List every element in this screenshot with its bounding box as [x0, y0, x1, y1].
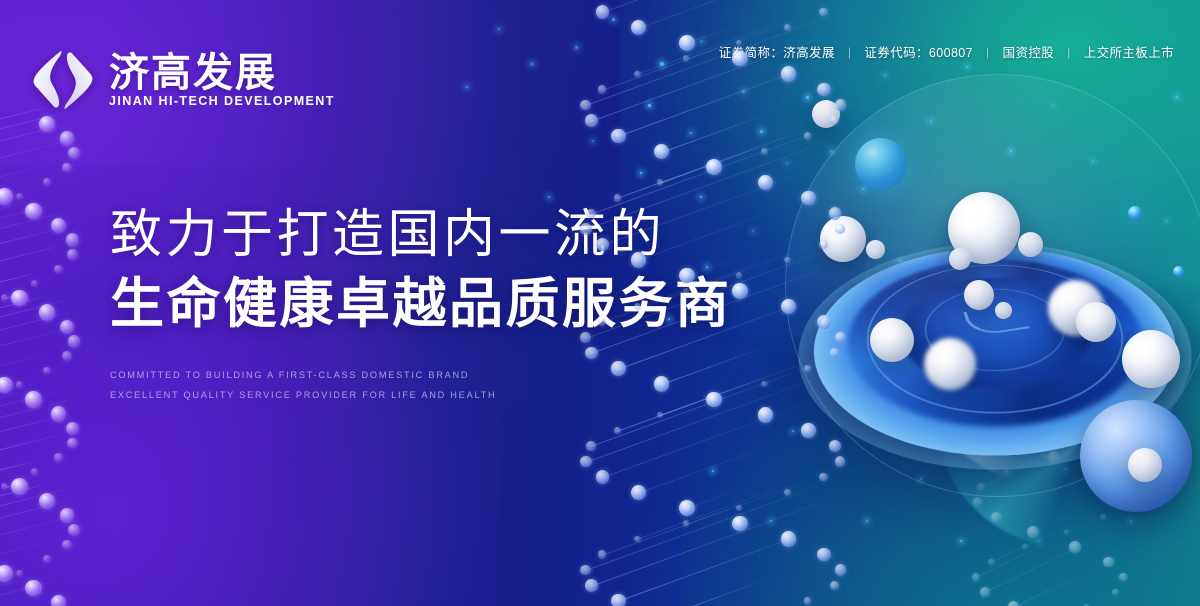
sphere-white-left-small	[866, 240, 885, 259]
hero-banner: 济高发展 JINAN HI-TECH DEVELOPMENT 证券简称：济高发展…	[0, 0, 1200, 606]
sphere-white-lower-blur	[924, 338, 976, 390]
subtitle-block: COMMITTED TO BUILDING A FIRST-CLASS DOME…	[110, 371, 496, 400]
company-logo[interactable]: 济高发展 JINAN HI-TECH DEVELOPMENT	[30, 47, 335, 113]
headline-line-2: 生命健康卓越品质服务商	[110, 272, 732, 337]
logo-text-block: 济高发展 JINAN HI-TECH DEVELOPMENT	[109, 52, 335, 108]
jigao-diamond-leaf-mark-icon	[30, 47, 96, 113]
sphere-white-center	[964, 280, 994, 310]
header-info-item-2: 国资控股	[1001, 42, 1057, 61]
header-separator: |	[848, 45, 852, 59]
sphere-white-center-small	[995, 302, 1012, 319]
headline-line-1: 致力于打造国内一流的	[110, 205, 732, 266]
sphere-cyan-glow	[855, 138, 907, 190]
header-info-item-3: 上交所主板上市	[1082, 42, 1176, 61]
sphere-white-lower-left	[870, 318, 914, 362]
sphere-white-on-blue	[1128, 448, 1162, 482]
sphere-white-right	[1076, 302, 1116, 342]
header-info-strip: 证券简称：济高发展|证券代码：600807|国资控股|上交所主板上市	[717, 42, 1176, 61]
subtitle-line-1: COMMITTED TO BUILDING A FIRST-CLASS DOME…	[110, 371, 496, 380]
header-info-item-1: 证券代码：600807	[862, 42, 975, 61]
sphere-white-left	[820, 216, 866, 262]
sphere-cyan-small-1	[1128, 206, 1142, 220]
sphere-white-helix-node	[812, 100, 840, 128]
header-separator: |	[1067, 45, 1071, 59]
sphere-white-small-top	[1018, 232, 1043, 257]
logo-chinese-name: 济高发展	[109, 52, 335, 94]
sphere-white-tiny-top	[949, 248, 971, 270]
sphere-white-far-right	[1122, 330, 1180, 388]
headline-block: 致力于打造国内一流的 生命健康卓越品质服务商	[110, 205, 732, 337]
logo-english-name: JINAN HI-TECH DEVELOPMENT	[109, 95, 335, 108]
sphere-cyan-small-2	[1173, 266, 1184, 277]
header-info-item-0: 证券简称：济高发展	[717, 42, 837, 61]
header-separator: |	[986, 45, 990, 59]
subtitle-line-2: EXCELLENT QUALITY SERVICE PROVIDER FOR L…	[110, 391, 496, 400]
